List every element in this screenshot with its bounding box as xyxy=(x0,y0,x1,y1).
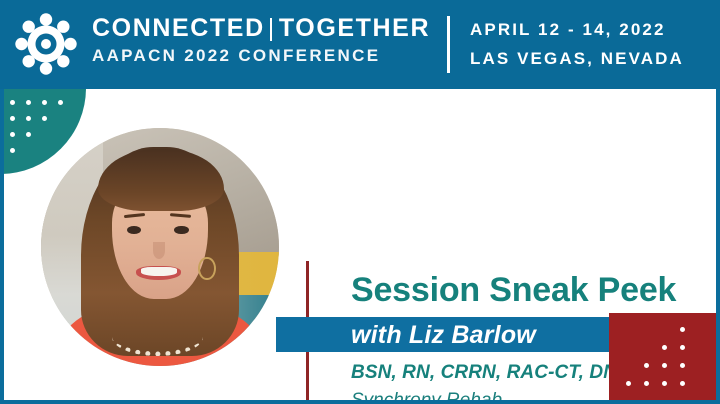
gear-flower-logo-icon xyxy=(14,12,78,76)
header-title-block: CONNECTED|TOGETHER AAPACN 2022 CONFERENC… xyxy=(92,13,432,69)
conference-header: CONNECTED|TOGETHER AAPACN 2022 CONFERENC… xyxy=(0,0,720,89)
conference-title-separator: | xyxy=(265,14,279,42)
red-quarter-circle-decoration xyxy=(609,313,716,400)
header-vertical-divider xyxy=(447,16,450,73)
speaker-name: with Liz Barlow xyxy=(351,321,536,349)
red-dot-grid xyxy=(609,313,695,399)
conference-title: CONNECTED|TOGETHER xyxy=(92,13,432,43)
conference-dates: APRIL 12 - 14, 2022 xyxy=(470,15,684,44)
conference-location: LAS VEGAS, NEVADA xyxy=(470,44,684,73)
speaker-affiliation: Synchrony Rehab xyxy=(351,389,502,400)
conference-subtitle: AAPACN 2022 CONFERENCE xyxy=(92,43,432,69)
conference-title-right: TOGETHER xyxy=(279,14,430,42)
page-title: Session Sneak Peek xyxy=(351,270,676,310)
video-slide: CONNECTED|TOGETHER AAPACN 2022 CONFERENC… xyxy=(0,0,720,404)
speaker-headshot xyxy=(41,128,279,366)
conference-title-left: CONNECTED xyxy=(92,14,265,42)
header-meta-block: APRIL 12 - 14, 2022 LAS VEGAS, NEVADA xyxy=(470,15,684,73)
slide-body: Session Sneak Peek with Liz Barlow BSN, … xyxy=(4,89,716,400)
